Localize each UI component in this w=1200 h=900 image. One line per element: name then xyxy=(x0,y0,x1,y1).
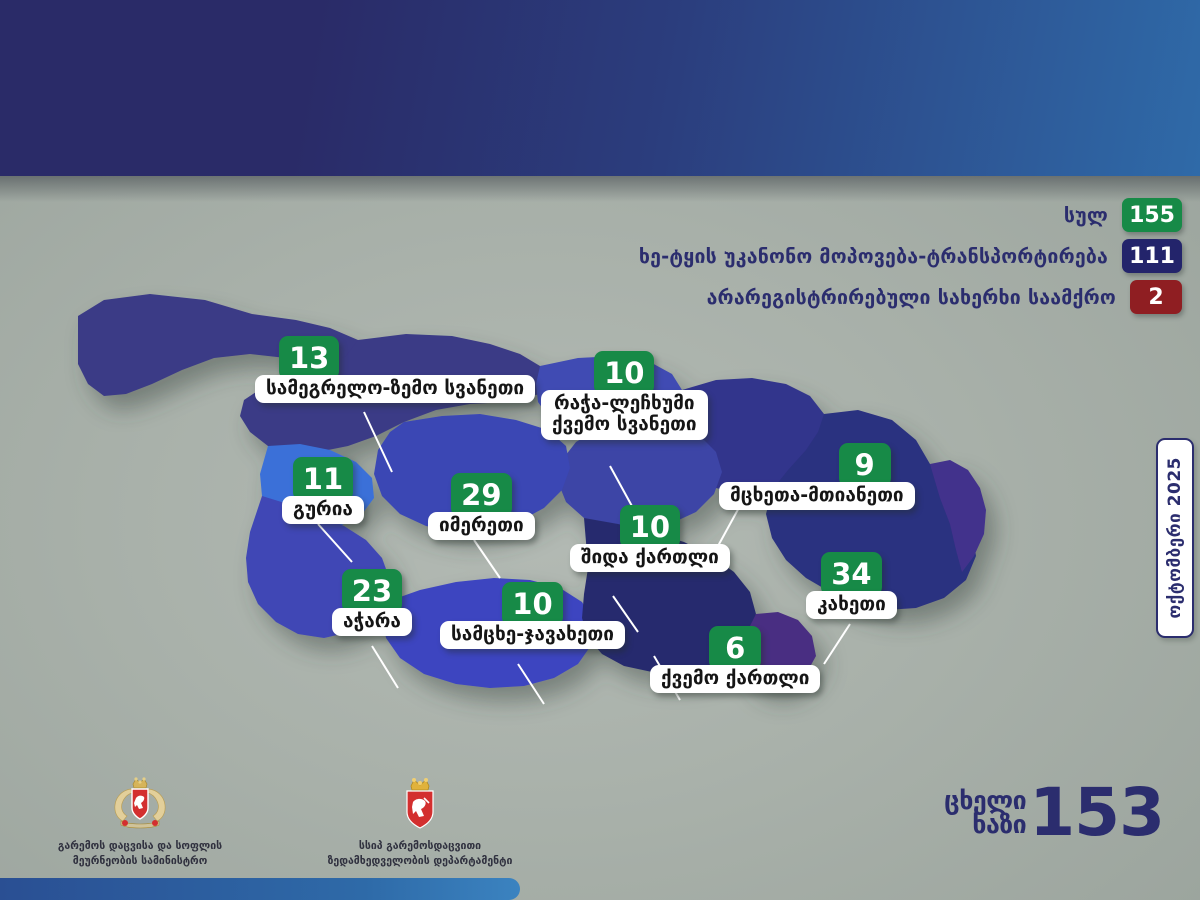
marker-label: იმერეთი xyxy=(428,512,535,540)
marker-label: სამეგრელო-ზემო სვანეთი xyxy=(255,375,535,403)
marker-label: მცხეთა-მთიანეთი xyxy=(719,482,915,510)
legend: სულ 155 ხე-ტყის უკანონო მოპოვება-ტრანსპო… xyxy=(639,198,1182,314)
hotline: ცხელი ხაზი 153 xyxy=(944,784,1164,842)
marker-racha-lechkhumi: 10 რაჭა-ლეჩხუმი ქვემო სვანეთი xyxy=(541,351,708,440)
footer-logos: გარემოს დაცვისა და სოფლის მეურნეობის სამ… xyxy=(0,776,560,886)
ministry-caption: გარემოს დაცვისა და სოფლის მეურნეობის სამ… xyxy=(58,839,222,868)
marker-imereti: 29 იმერეთი xyxy=(428,473,535,540)
marker-count: 6 xyxy=(709,626,761,670)
legend-chip-transport: 111 xyxy=(1122,239,1182,273)
marker-count: 13 xyxy=(279,336,339,380)
legend-chip-sawmill: 2 xyxy=(1130,280,1182,314)
marker-label: აჭარა xyxy=(332,608,412,636)
marker-mtskheta-mtianeti: 9 მცხეთა-მთიანეთი xyxy=(719,443,915,510)
marker-label: რაჭა-ლეჩხუმი ქვემო სვანეთი xyxy=(541,390,708,440)
marker-adjara: 23 აჭარა xyxy=(332,569,412,636)
legend-row-sawmill: არარეგისტრირებული სახერხი საამქრო 2 xyxy=(707,280,1182,314)
logo-block-department: სსიპ გარემოსდაცვითი ზედამხედველობის დეპა… xyxy=(280,776,560,886)
date-tab: ოქტომბერი 2025 xyxy=(1156,438,1194,638)
ministry-emblem-icon xyxy=(109,776,171,836)
marker-count: 9 xyxy=(839,443,891,487)
header-bar xyxy=(0,0,1200,176)
legend-row-transport: ხე-ტყის უკანონო მოპოვება-ტრანსპორტირება … xyxy=(639,239,1182,273)
department-caption: სსიპ გარემოსდაცვითი ზედამხედველობის დეპა… xyxy=(328,839,513,868)
marker-count: 34 xyxy=(821,552,881,596)
marker-count: 10 xyxy=(620,505,680,549)
infographic-root: უკანონო ტყითსარგებლობის სტატისტიკა xyxy=(0,0,1200,900)
marker-kvemo-kartli: 6 ქვემო ქართლი xyxy=(650,626,820,693)
hotline-number: 153 xyxy=(1029,784,1164,842)
department-emblem-icon xyxy=(398,776,442,836)
marker-shida-kartli: 10 შიდა ქართლი xyxy=(570,505,730,572)
marker-label: გურია xyxy=(282,496,364,524)
logo-block-ministry: გარემოს დაცვისა და სოფლის მეურნეობის სამ… xyxy=(0,776,280,886)
marker-samtskhe-javakheti: 10 სამცხე-ჯავახეთი xyxy=(440,582,625,649)
marker-label: სამცხე-ჯავახეთი xyxy=(440,621,625,649)
marker-count: 10 xyxy=(594,351,654,395)
marker-guria: 11 გურია xyxy=(282,457,364,524)
date-tab-label: ოქტომბერი 2025 xyxy=(1165,457,1185,619)
marker-label: შიდა ქართლი xyxy=(570,544,730,572)
legend-label-total: სულ xyxy=(1064,204,1108,227)
marker-label: კახეთი xyxy=(806,591,897,619)
legend-chip-total: 155 xyxy=(1122,198,1182,232)
marker-count: 23 xyxy=(342,569,402,613)
legend-label-transport: ხე-ტყის უკანონო მოპოვება-ტრანსპორტირება xyxy=(639,245,1108,268)
marker-samegrelo-zemo-svaneti: 13 სამეგრელო-ზემო სვანეთი xyxy=(255,336,535,403)
legend-row-total: სულ 155 xyxy=(1064,198,1182,232)
marker-count: 10 xyxy=(502,582,562,626)
marker-count: 11 xyxy=(293,457,353,501)
marker-label: ქვემო ქართლი xyxy=(650,665,820,693)
marker-kakheti: 34 კახეთი xyxy=(806,552,897,619)
legend-label-sawmill: არარეგისტრირებული სახერხი საამქრო xyxy=(707,286,1116,309)
marker-count: 29 xyxy=(451,473,511,517)
hotline-words: ცხელი ხაზი xyxy=(944,789,1026,838)
